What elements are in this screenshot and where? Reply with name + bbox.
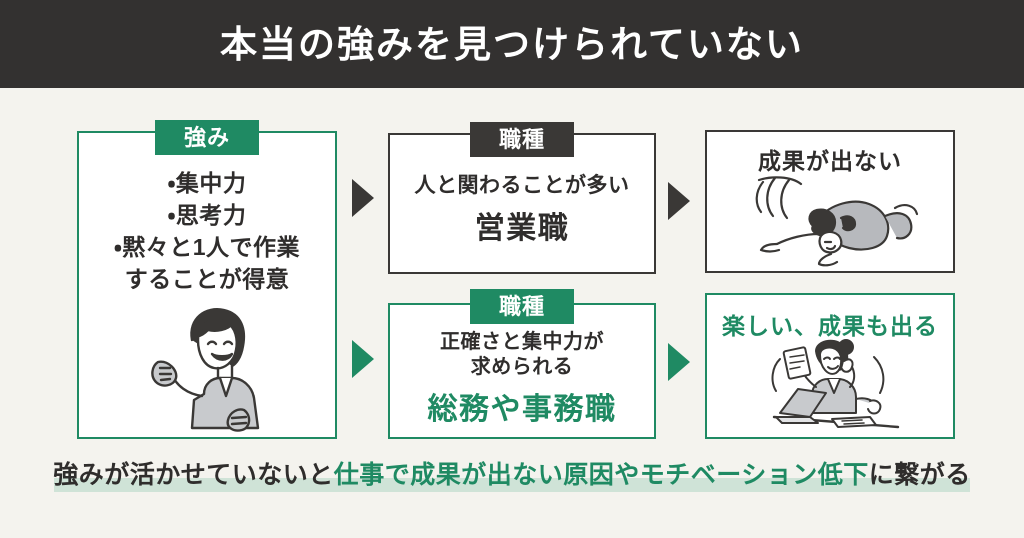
- job-office-lead-line2: 求められる: [388, 355, 656, 380]
- footer-part-1: 強みが活かせていないと: [53, 461, 334, 489]
- job-office-badge-label: 職種: [499, 296, 545, 318]
- result-good-title: 楽しい、成果も出る: [705, 307, 955, 341]
- result-bad-title: 成果が出ない: [705, 142, 955, 176]
- job-sales-headline: 営業職: [388, 203, 656, 247]
- strength-bullet-3: することが得意: [77, 264, 337, 295]
- strength-bullet-2: ・黙々と1人で作業: [77, 232, 337, 263]
- header-bar: 本当の強みを見つけられていない: [0, 0, 1024, 88]
- arrow-office-to-result: [668, 343, 690, 381]
- strength-bullet-1: ・思考力: [77, 200, 337, 231]
- arrow-strength-to-office: [352, 340, 374, 378]
- footer-part-4: に繋がる: [869, 461, 971, 489]
- confident-woman-illustration: [140, 300, 280, 432]
- footer-text: 強みが活かせていないと仕事で成果が出ない原因やモチベーション低下に繋がる: [53, 463, 971, 488]
- job-office-headline: 総務や事務職: [388, 384, 656, 428]
- page-title: 本当の強みを見つけられていない: [220, 26, 804, 63]
- footer-part-3: モチベーション低下: [640, 461, 869, 489]
- arrow-strength-to-sales: [352, 179, 374, 217]
- footer-part-2: 仕事で成果が出ない原因や: [334, 461, 640, 489]
- slide-root: 本当の強みを見つけられていない 強み ・集中力 ・思考力 ・黙々と1人で作業 す…: [0, 0, 1024, 538]
- happy-worker-laptop-illustration: [758, 337, 908, 433]
- strength-bullet-0: ・集中力: [77, 168, 337, 199]
- collapsed-person-illustration: [745, 174, 925, 269]
- strength-badge-label: 強み: [184, 127, 230, 149]
- arrow-sales-to-result: [668, 182, 690, 220]
- strength-badge: 強み: [155, 120, 259, 155]
- job-sales-badge-label: 職種: [499, 129, 545, 151]
- job-office-lead-line1: 正確さと集中力が: [388, 330, 656, 355]
- job-sales-badge: 職種: [470, 122, 574, 157]
- job-office-badge: 職種: [470, 289, 574, 324]
- job-sales-lead: 人と関わることが多い: [388, 169, 656, 199]
